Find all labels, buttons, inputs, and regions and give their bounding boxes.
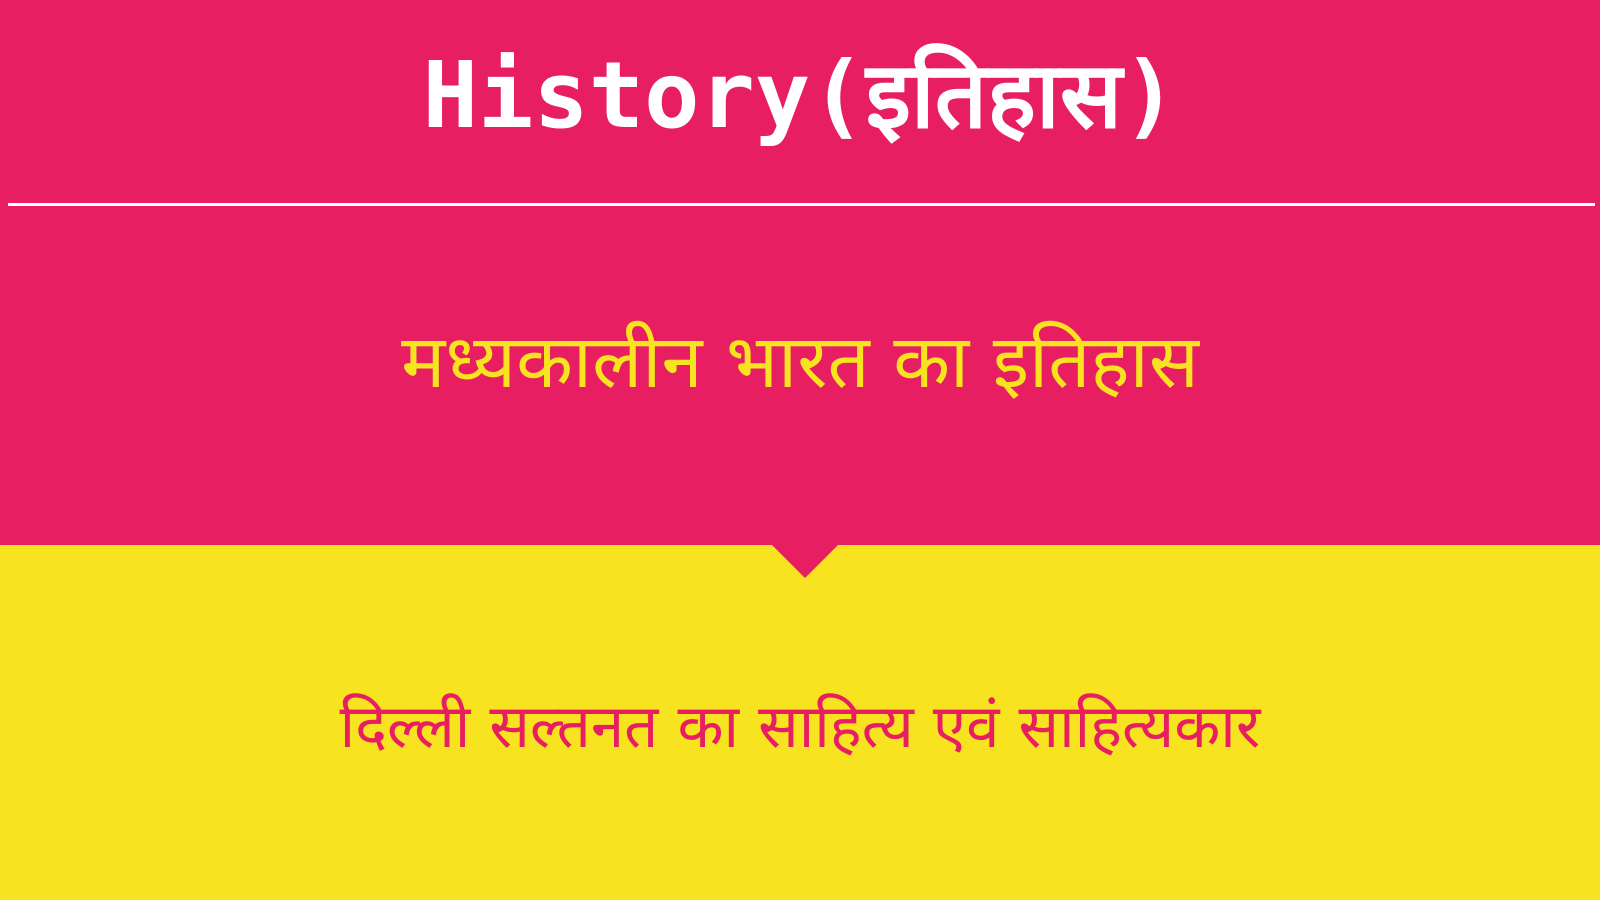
slide-canvas: History(इतिहास) मध्यकालीन भारत का इतिहास… bbox=[0, 0, 1600, 900]
topic-subtitle: दिल्ली सल्तनत का साहित्य एवं साहित्यकार bbox=[340, 690, 1261, 765]
page-title: History(इतिहास) bbox=[423, 50, 1178, 142]
title-band: History(इतिहास) bbox=[0, 0, 1600, 204]
chevron-down-notch-icon bbox=[772, 545, 838, 578]
title-divider bbox=[8, 203, 1595, 206]
section-heading: मध्यकालीन भारत का इतिहास bbox=[401, 316, 1199, 409]
subtitle-band: दिल्ली सल्तनत का साहित्य एवं साहित्यकार bbox=[0, 578, 1600, 900]
heading-band: मध्यकालीन भारत का इतिहास bbox=[0, 204, 1600, 545]
